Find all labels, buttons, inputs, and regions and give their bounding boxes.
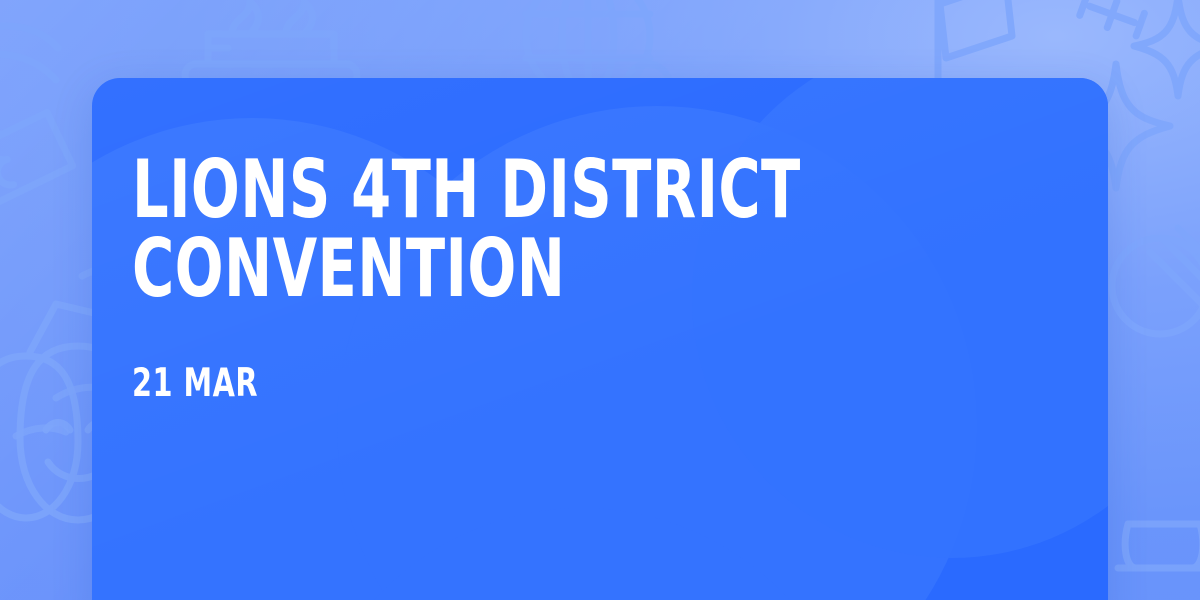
flag-icon — [938, 0, 1012, 78]
event-card[interactable]: Lions 4th District Convention 21 Mar — [92, 78, 1108, 600]
event-date: 21 Mar — [132, 308, 900, 403]
event-title: Lions 4th District Convention — [132, 150, 881, 308]
cake-icon — [185, 2, 357, 86]
confetti-icon — [0, 26, 58, 80]
event-banner: Lions 4th District Convention 21 Mar — [0, 0, 1200, 600]
lantern-icon — [1118, 524, 1200, 568]
card-content: Lions 4th District Convention 21 Mar — [132, 150, 1068, 403]
microphone-icon — [1112, 218, 1200, 334]
ticket-icon — [0, 109, 78, 210]
wrench-icon — [1079, 0, 1145, 38]
